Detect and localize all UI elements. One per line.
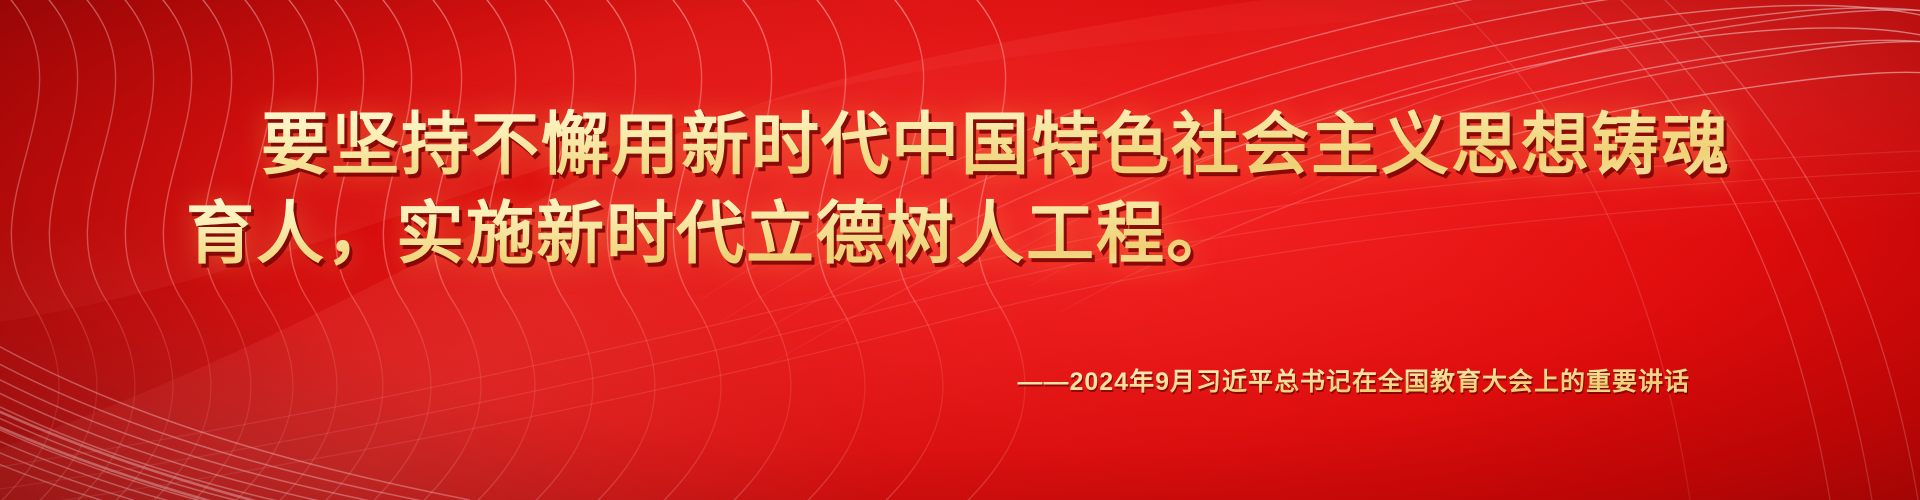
quote-attribution: ——2024年9月习近平总书记在全国教育大会上的重要讲话 bbox=[1017, 362, 1690, 398]
quote-line-2: 育人，实施新时代立德树人工程。 bbox=[186, 193, 1236, 276]
quote-line-1: 要坚持不懈用新时代中国特色社会主义思想铸魂 bbox=[261, 104, 1731, 187]
banner-content: 要坚持不懈用新时代中国特色社会主义思想铸魂 育人，实施新时代立德树人工程。 bbox=[0, 0, 1920, 500]
slogan-banner: 要坚持不懈用新时代中国特色社会主义思想铸魂 育人，实施新时代立德树人工程。 ——… bbox=[0, 0, 1920, 500]
